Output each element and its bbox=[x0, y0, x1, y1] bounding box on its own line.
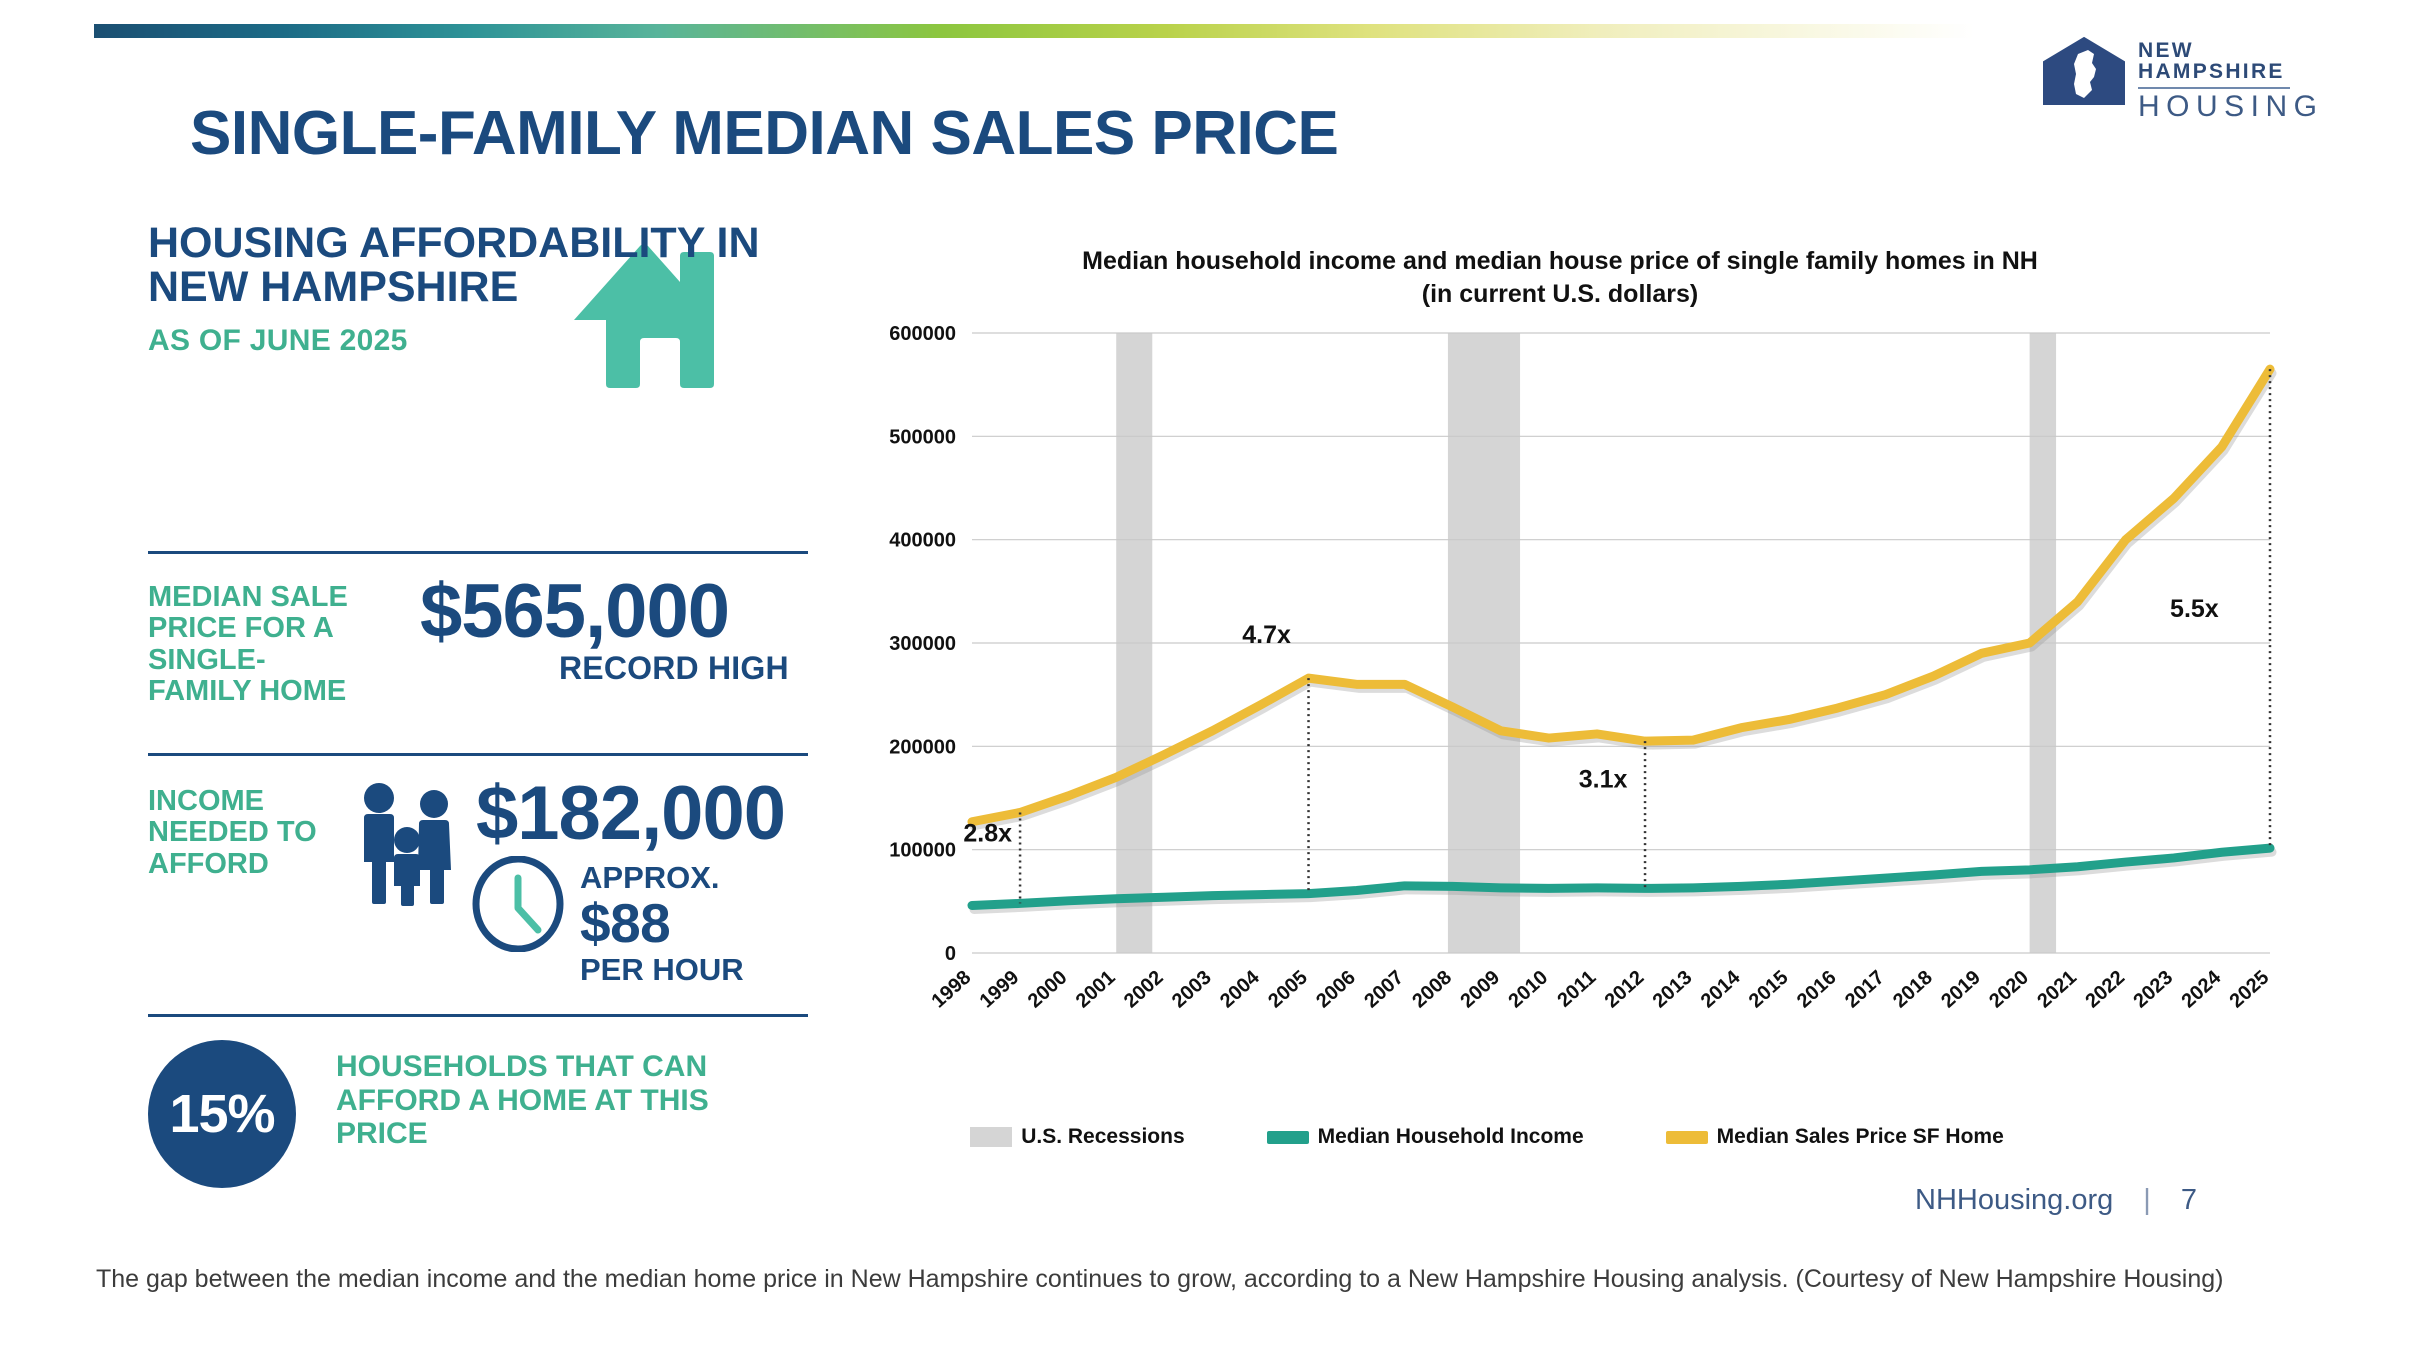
y-tick-label: 200000 bbox=[889, 736, 956, 758]
x-tick-label: 2001 bbox=[1072, 966, 1120, 1012]
x-tick-label: 2009 bbox=[1456, 966, 1504, 1012]
x-tick-label: 2015 bbox=[1745, 966, 1793, 1012]
legend-swatch bbox=[1666, 1131, 1708, 1144]
slide-canvas: NEW HAMPSHIRE HOUSING SINGLE-FAMILY MEDI… bbox=[0, 0, 2418, 1228]
income-hourly-value: $88 bbox=[580, 891, 670, 955]
legend-swatch bbox=[970, 1127, 1012, 1147]
chart-plot: 0100000200000300000400000500000600000199… bbox=[860, 323, 2280, 1123]
footer-page-number: 7 bbox=[2181, 1184, 2197, 1217]
logo-divider bbox=[2138, 87, 2290, 89]
x-tick-label: 2022 bbox=[2081, 966, 2129, 1012]
x-tick-label: 2004 bbox=[1216, 966, 1264, 1013]
logo-line1: NEW HAMPSHIRE bbox=[2138, 40, 2324, 82]
slide-footer: NHHousing.org | 7 bbox=[1915, 1184, 2197, 1217]
legend-label: Median Household Income bbox=[1318, 1125, 1584, 1149]
annotation-label: 4.7x bbox=[1242, 621, 1291, 649]
series-line bbox=[972, 369, 2270, 822]
nh-housing-logo: NEW HAMPSHIRE HOUSING bbox=[2040, 34, 2280, 112]
y-tick-label: 0 bbox=[945, 943, 956, 965]
percent-value: 15% bbox=[169, 1083, 274, 1145]
x-tick-label: 2002 bbox=[1120, 966, 1168, 1012]
logo-wordmark: NEW HAMPSHIRE HOUSING bbox=[2138, 40, 2324, 122]
panel-divider-1 bbox=[148, 551, 808, 554]
y-tick-label: 100000 bbox=[889, 840, 956, 862]
x-tick-label: 2020 bbox=[1985, 966, 2033, 1012]
y-tick-label: 600000 bbox=[889, 323, 956, 345]
legend-item: U.S. Recessions bbox=[970, 1125, 1184, 1149]
x-tick-label: 2007 bbox=[1360, 966, 1408, 1012]
x-tick-label: 1999 bbox=[976, 966, 1024, 1012]
x-tick-label: 2014 bbox=[1697, 966, 1745, 1013]
series-line bbox=[972, 848, 2270, 905]
x-tick-label: 2003 bbox=[1168, 966, 1216, 1012]
nh-house-logo-icon bbox=[2040, 36, 2128, 108]
x-tick-label: 2006 bbox=[1312, 966, 1360, 1012]
clock-icon bbox=[470, 856, 566, 952]
legend-item: Median Sales Price SF Home bbox=[1666, 1125, 2004, 1149]
logo-line2: HOUSING bbox=[2138, 92, 2324, 122]
chart-title-line2: (in current U.S. dollars) bbox=[1422, 280, 1698, 308]
affordability-panel: HOUSING AFFORDABILITY IN NEW HAMPSHIRE A… bbox=[148, 222, 808, 358]
x-tick-label: 2016 bbox=[1793, 966, 1841, 1012]
income-per-hour-label: PER HOUR bbox=[580, 952, 744, 988]
annotation-label: 3.1x bbox=[1579, 766, 1628, 794]
percent-description: HOUSEHOLDS THAT CAN AFFORD A HOME AT THI… bbox=[336, 1050, 766, 1151]
median-price-value: $565,000 bbox=[420, 568, 729, 655]
y-tick-label: 500000 bbox=[889, 426, 956, 448]
y-tick-label: 400000 bbox=[889, 530, 956, 552]
gradient-rule bbox=[94, 24, 1974, 38]
x-tick-label: 2005 bbox=[1264, 966, 1312, 1012]
footer-site[interactable]: NHHousing.org bbox=[1915, 1184, 2113, 1217]
y-tick-label: 300000 bbox=[889, 633, 956, 655]
x-tick-label: 2013 bbox=[1649, 966, 1697, 1012]
legend-swatch bbox=[1267, 1131, 1309, 1144]
annotation-label: 2.8x bbox=[963, 819, 1012, 847]
panel-as-of: AS OF JUNE 2025 bbox=[148, 324, 808, 358]
median-price-label: MEDIAN SALE PRICE FOR A SINGLE-FAMILY HO… bbox=[148, 582, 358, 707]
x-tick-label: 2025 bbox=[2226, 966, 2274, 1012]
legend-label: Median Sales Price SF Home bbox=[1717, 1125, 2004, 1149]
page-root: NEW HAMPSHIRE HOUSING SINGLE-FAMILY MEDI… bbox=[0, 0, 2418, 1362]
x-tick-label: 2011 bbox=[1553, 966, 1600, 1011]
x-tick-label: 2019 bbox=[1937, 966, 1985, 1012]
family-icon bbox=[348, 778, 468, 908]
x-tick-label: 2023 bbox=[2129, 966, 2177, 1012]
percent-badge: 15% bbox=[148, 1040, 296, 1188]
x-tick-label: 2018 bbox=[1889, 966, 1937, 1012]
x-tick-label: 2024 bbox=[2177, 966, 2225, 1013]
chart-title-line1: Median household income and median house… bbox=[1082, 247, 2038, 275]
figure-caption: The gap between the median income and th… bbox=[96, 1258, 2326, 1300]
x-tick-label: 2000 bbox=[1024, 966, 1072, 1012]
legend-item: Median Household Income bbox=[1267, 1125, 1584, 1149]
footer-separator: | bbox=[2143, 1184, 2151, 1217]
chart-legend: U.S. RecessionsMedian Household IncomeMe… bbox=[932, 1125, 2042, 1149]
page-title: SINGLE-FAMILY MEDIAN SALES PRICE bbox=[190, 98, 1338, 169]
chart-title: Median household income and median house… bbox=[860, 245, 2260, 310]
income-needed-value: $182,000 bbox=[476, 770, 785, 857]
x-tick-label: 2008 bbox=[1408, 966, 1456, 1012]
chart-container: Median household income and median house… bbox=[860, 245, 2360, 1175]
annotation-label: 5.5x bbox=[2170, 595, 2219, 623]
x-tick-label: 2021 bbox=[2033, 966, 2081, 1012]
median-price-sublabel: RECORD HIGH bbox=[559, 650, 789, 687]
income-needed-label: INCOME NEEDED TO AFFORD bbox=[148, 786, 378, 880]
panel-heading: HOUSING AFFORDABILITY IN NEW HAMPSHIRE bbox=[148, 222, 808, 310]
x-tick-label: 2017 bbox=[1841, 966, 1889, 1012]
x-tick-label: 1998 bbox=[928, 966, 976, 1012]
x-tick-label: 2012 bbox=[1601, 966, 1649, 1012]
panel-divider-3 bbox=[148, 1014, 808, 1017]
legend-label: U.S. Recessions bbox=[1021, 1125, 1184, 1149]
x-tick-label: 2010 bbox=[1504, 966, 1552, 1012]
panel-divider-2 bbox=[148, 753, 808, 756]
